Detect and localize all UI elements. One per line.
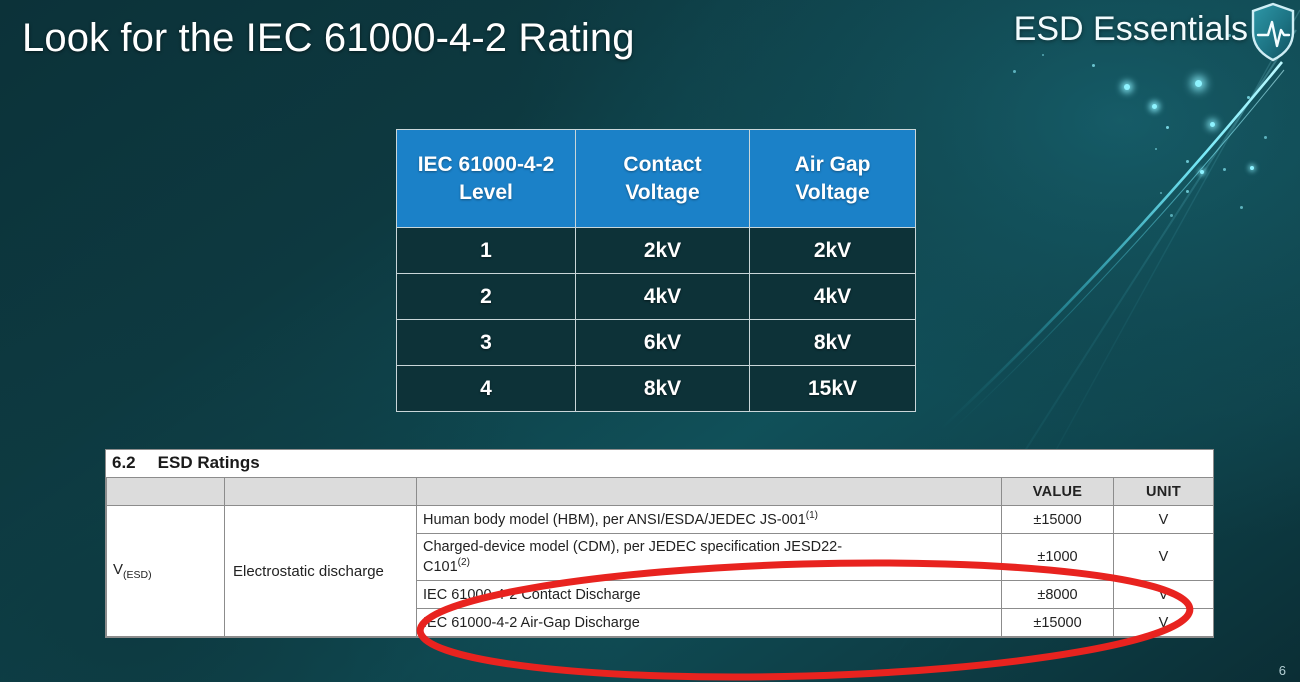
section-title: ESD Ratings — [158, 453, 260, 473]
footnote-marker: (2) — [458, 557, 470, 568]
cell-unit: V — [1114, 534, 1214, 581]
cell-symbol: V(ESD) — [107, 506, 225, 637]
cell-level: 3 — [397, 320, 576, 366]
cell-value: ±15000 — [1002, 609, 1114, 637]
cell-contact: 4kV — [576, 274, 750, 320]
cell-unit: V — [1114, 506, 1214, 534]
cell-unit: V — [1114, 581, 1214, 609]
column-header-blank-parameter — [225, 478, 417, 506]
datasheet-section-heading: 6.2 ESD Ratings — [106, 450, 1213, 477]
column-header-unit: UNIT — [1114, 478, 1214, 506]
cell-description: IEC 61000-4-2 Air-Gap Discharge — [417, 609, 1002, 637]
cell-description: IEC 61000-4-2 Contact Discharge — [417, 581, 1002, 609]
footnote-marker: (1) — [806, 510, 818, 521]
slide-canvas: Look for the IEC 61000-4-2 Rating ESD Es… — [0, 0, 1300, 682]
cell-airgap: 4kV — [750, 274, 916, 320]
esd-ratings-table: VALUE UNIT V(ESD) Electrostatic discharg… — [106, 477, 1214, 637]
table-row: V(ESD) Electrostatic discharge Human bod… — [107, 506, 1214, 534]
table-row: 2 4kV 4kV — [397, 274, 916, 320]
cell-airgap: 8kV — [750, 320, 916, 366]
table-row: 1 2kV 2kV — [397, 228, 916, 274]
cell-description: Charged-device model (CDM), per JEDEC sp… — [417, 534, 1002, 581]
datasheet-excerpt: 6.2 ESD Ratings VALUE UNIT V — [105, 449, 1214, 638]
column-header-blank-description — [417, 478, 1002, 506]
column-header-iec-level: IEC 61000-4-2 Level — [397, 130, 576, 228]
column-header-blank-symbol — [107, 478, 225, 506]
cell-value: ±1000 — [1002, 534, 1114, 581]
section-number: 6.2 — [112, 453, 136, 473]
page-title: Look for the IEC 61000-4-2 Rating — [22, 16, 635, 61]
cell-contact: 8kV — [576, 366, 750, 412]
cell-contact: 6kV — [576, 320, 750, 366]
table-row: 4 8kV 15kV — [397, 366, 916, 412]
page-number: 6 — [1279, 663, 1286, 678]
table-header-row: IEC 61000-4-2 Level Contact Voltage Air … — [397, 130, 916, 228]
cell-value: ±8000 — [1002, 581, 1114, 609]
cell-level: 4 — [397, 366, 576, 412]
column-header-contact-voltage: Contact Voltage — [576, 130, 750, 228]
cell-level: 1 — [397, 228, 576, 274]
brand-name: ESD Essentials — [1014, 10, 1248, 49]
cell-level: 2 — [397, 274, 576, 320]
cell-contact: 2kV — [576, 228, 750, 274]
column-header-value: VALUE — [1002, 478, 1114, 506]
column-header-air-gap-voltage: Air Gap Voltage — [750, 130, 916, 228]
iec-level-table: IEC 61000-4-2 Level Contact Voltage Air … — [396, 129, 916, 412]
shield-pulse-icon — [1250, 2, 1296, 62]
cell-value: ±15000 — [1002, 506, 1114, 534]
symbol-subscript: (ESD) — [123, 569, 152, 581]
table-row: 3 6kV 8kV — [397, 320, 916, 366]
cell-airgap: 2kV — [750, 228, 916, 274]
cell-unit: V — [1114, 609, 1214, 637]
cell-parameter: Electrostatic discharge — [225, 506, 417, 637]
brand-lockup: ESD Essentials — [1014, 10, 1248, 49]
table-header-row: VALUE UNIT — [107, 478, 1214, 506]
cell-airgap: 15kV — [750, 366, 916, 412]
cell-description: Human body model (HBM), per ANSI/ESDA/JE… — [417, 506, 1002, 534]
